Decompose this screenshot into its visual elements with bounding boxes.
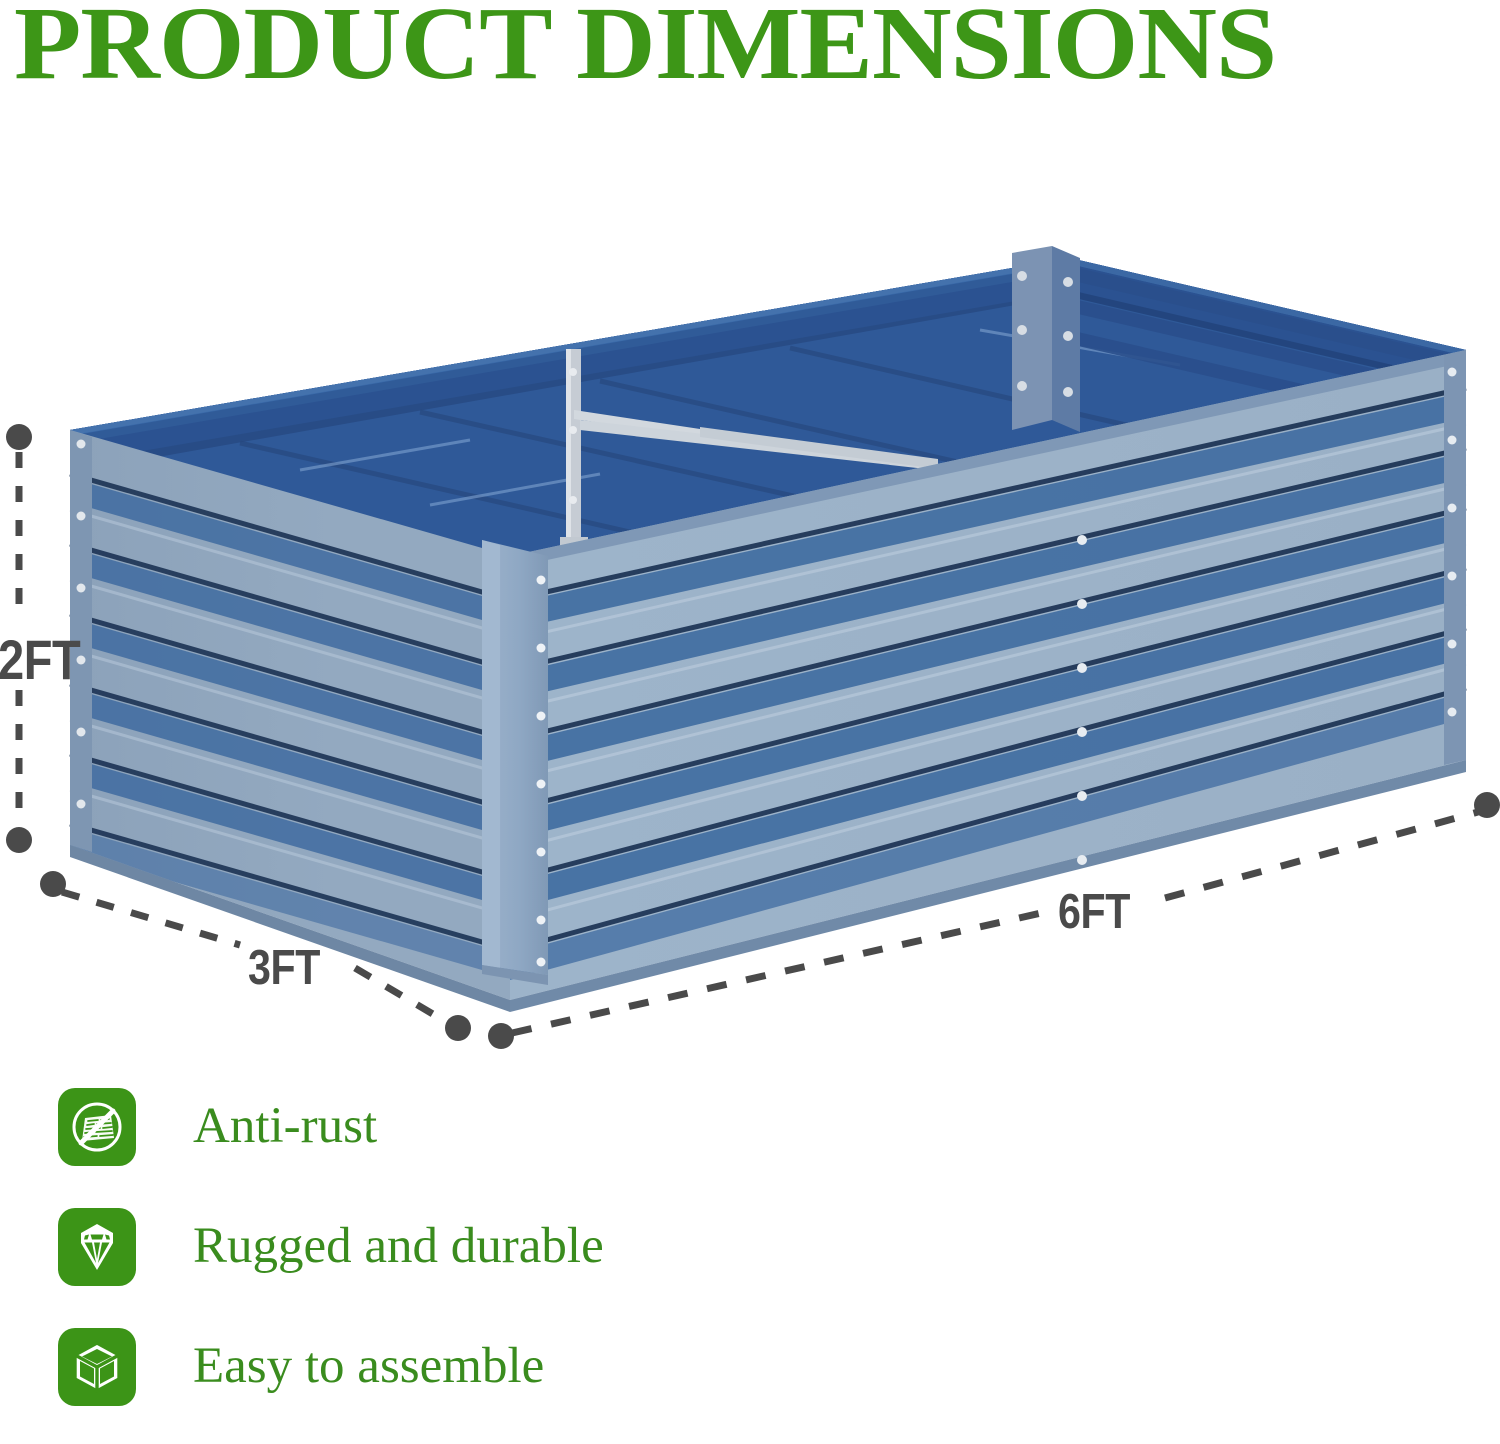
dimension-label-height: 2FT bbox=[0, 627, 80, 692]
dimension-dot-width-start bbox=[488, 1023, 514, 1049]
feature-label-assemble: Easy to assemble bbox=[193, 1326, 544, 1406]
cube-box-icon bbox=[58, 1328, 136, 1406]
feature-label-anti-rust: Anti-rust bbox=[193, 1086, 377, 1166]
product-illustration bbox=[0, 0, 1500, 1080]
anti-rust-icon bbox=[58, 1088, 136, 1166]
dimension-dot-width-end bbox=[1474, 792, 1500, 818]
feature-list: Anti-rust Rugg bbox=[0, 1078, 1500, 1438]
right-edge-flange bbox=[1444, 350, 1466, 765]
back-corner-post bbox=[1012, 246, 1080, 432]
dimension-dot-depth-start bbox=[40, 871, 66, 897]
feature-label-rugged: Rugged and durable bbox=[193, 1206, 604, 1286]
dimension-label-depth: 3FT bbox=[248, 940, 320, 996]
dimension-dot-height-top bbox=[6, 424, 32, 450]
feature-item-assemble: Easy to assemble bbox=[0, 1318, 1500, 1438]
front-corner-post bbox=[482, 540, 548, 985]
diamond-icon bbox=[58, 1208, 136, 1286]
dimension-dot-height-bottom bbox=[6, 827, 32, 853]
feature-item-rugged: Rugged and durable bbox=[0, 1198, 1500, 1318]
dimension-label-width: 6FT bbox=[1058, 884, 1130, 940]
feature-item-anti-rust: Anti-rust bbox=[0, 1078, 1500, 1198]
dimension-dot-depth-end bbox=[445, 1015, 471, 1041]
